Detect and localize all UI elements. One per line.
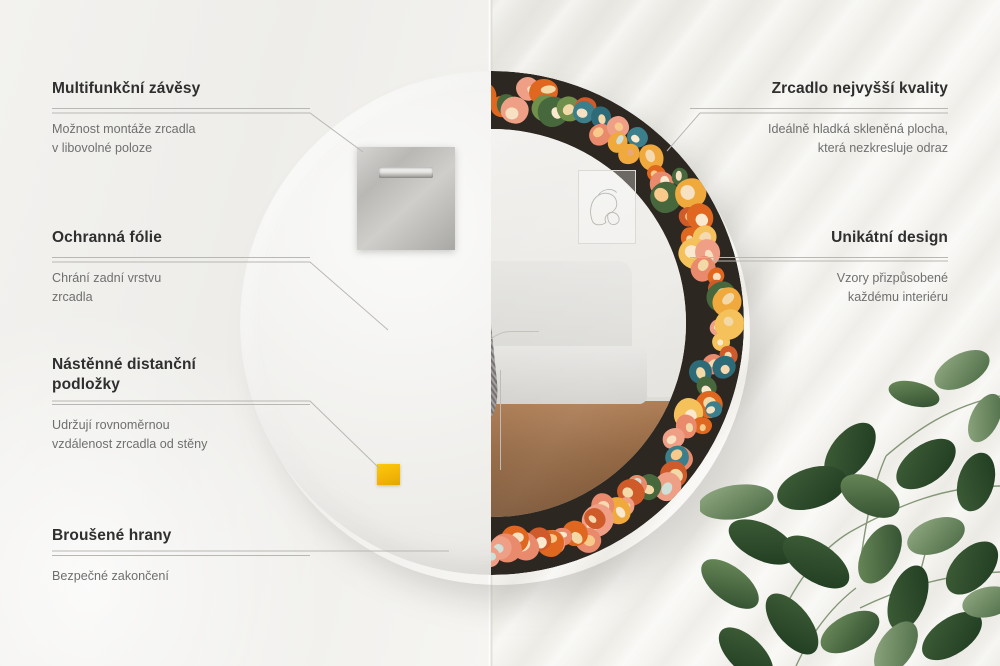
callout-description: Možnost montáže zrcadlav libovolné poloz… — [52, 120, 310, 158]
mirror-product — [240, 71, 744, 575]
frame-pattern-dot-core — [721, 314, 735, 328]
callout-title: Unikátní design — [690, 228, 948, 248]
callout-description: Bezpečné zakončení — [52, 567, 310, 586]
callout-description: Udržují rovnoměrnouvzdálenost zrcadla od… — [52, 416, 310, 454]
callout-title: Nástěnné distančnípodložky — [52, 355, 310, 395]
mirror-disc — [240, 71, 744, 575]
callout-rule — [52, 108, 310, 109]
callout-title: Broušené hrany — [52, 526, 310, 546]
wall-art-frame-icon — [578, 170, 636, 244]
callout-title: Multifunkční závěsy — [52, 79, 310, 99]
callout-description: Vzory přizpůsobenékaždému interiéru — [690, 269, 948, 307]
callout-description: Ideálně hladká skleněná plocha,která nez… — [690, 120, 948, 158]
callout-highest-quality-mirror: Zrcadlo nejvyšší kvality Ideálně hladká … — [690, 79, 948, 158]
callout-unique-design: Unikátní design Vzory přizpůsobenékaždém… — [690, 228, 948, 307]
hanger-slot — [379, 167, 434, 178]
callout-polished-edges: Broušené hrany Bezpečné zakončení — [52, 526, 310, 586]
callout-rule — [690, 257, 948, 258]
callout-wall-spacers: Nástěnné distančnípodložky Udržují rovno… — [52, 355, 310, 454]
callout-title: Zrcadlo nejvyšší kvality — [690, 79, 948, 99]
frame-pattern-dot-core — [540, 84, 555, 93]
callout-rule — [52, 404, 310, 405]
infographic-canvas: Multifunkční závěsy Možnost montáže zrca… — [0, 0, 1000, 666]
callout-description: Chrání zadní vrstvuzrcadla — [52, 269, 310, 307]
callout-rule — [52, 555, 310, 556]
callout-title: Ochranná fólie — [52, 228, 310, 248]
callout-rule — [690, 108, 948, 109]
multifunctional-hanger-plate — [357, 147, 455, 250]
wall-spacer-pad — [377, 464, 400, 485]
frame-pattern-dot-core — [576, 107, 589, 119]
callout-multifunctional-hangers: Multifunkční závěsy Možnost montáže zrca… — [52, 79, 310, 158]
decorative-plant-leaves — [700, 336, 1000, 666]
frame-pattern-dot-core — [685, 423, 692, 432]
callout-protective-foil: Ochranná fólie Chrání zadní vrstvuzrcadl… — [52, 228, 310, 307]
callout-rule — [52, 257, 310, 258]
frame-pattern-dot-core — [505, 107, 518, 120]
